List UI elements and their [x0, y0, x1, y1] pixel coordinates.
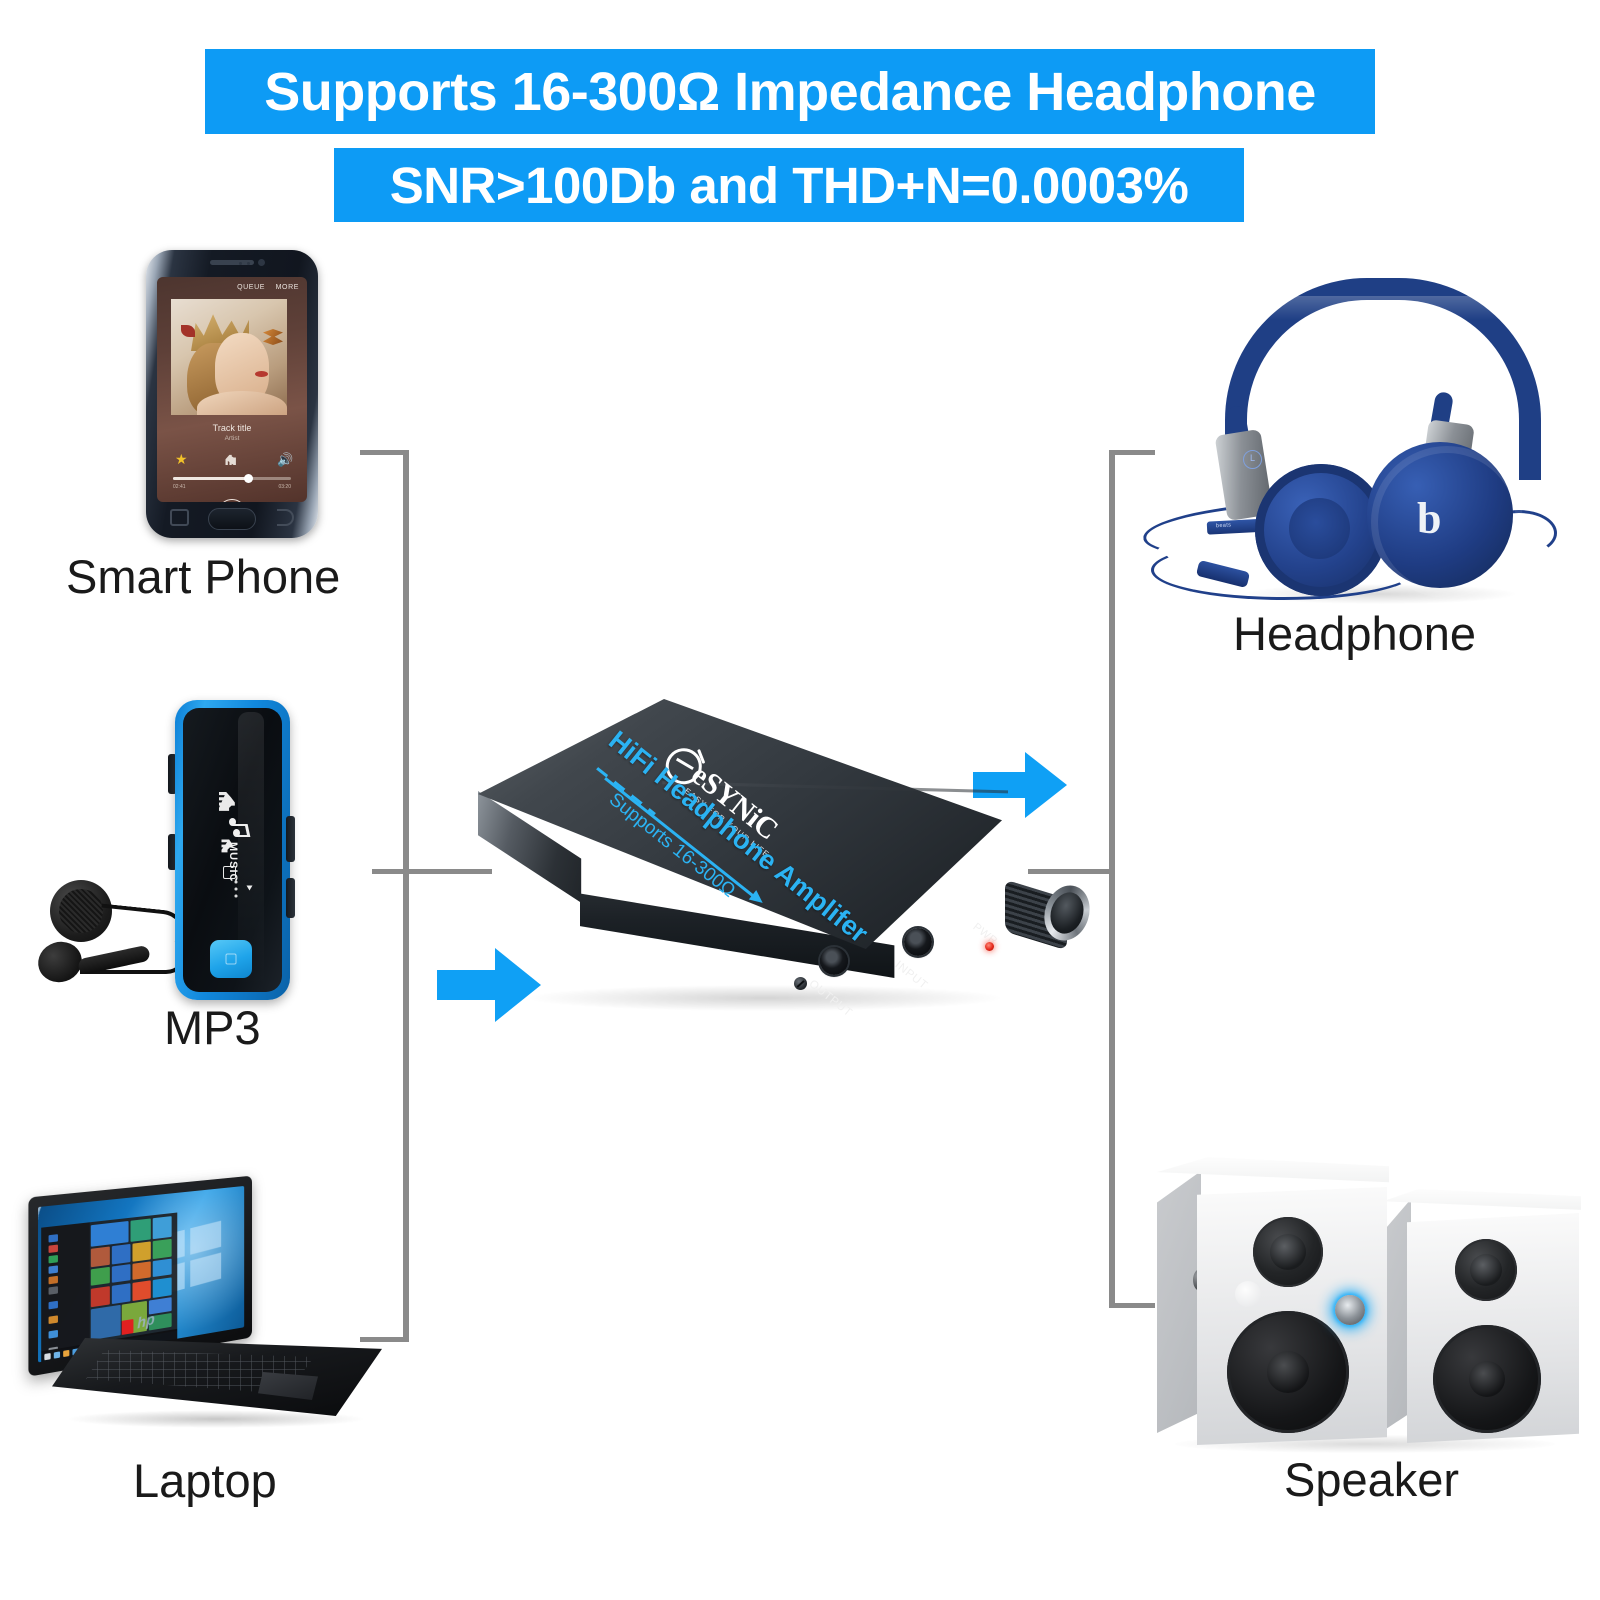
phone-body: QUEUE MORE Track title Artist ★ 🔊	[146, 250, 318, 538]
speaker-pair-device	[1135, 1135, 1555, 1455]
progress-slider[interactable]	[173, 477, 291, 480]
play-button[interactable]	[218, 499, 247, 502]
artwork-butterfly	[263, 329, 283, 345]
input-jack[interactable]	[904, 928, 932, 956]
favorite-star-icon[interactable]: ★	[175, 452, 188, 466]
mp3-dots-icon	[235, 881, 238, 903]
caption-smart-phone: Smart Phone	[66, 549, 340, 604]
front-camera-icon	[258, 259, 265, 266]
caption-speaker: Speaker	[1284, 1452, 1459, 1507]
volume-knob-face	[1045, 888, 1088, 938]
laptop-device: hp	[12, 1186, 412, 1436]
home-button[interactable]	[208, 508, 256, 530]
artwork-shoulder	[197, 391, 287, 415]
start-menu-tiles[interactable]	[91, 1216, 176, 1342]
volume-knob[interactable]	[1005, 883, 1089, 949]
plug-brand-label: beats	[1216, 522, 1232, 529]
front-panel-screw	[794, 977, 807, 990]
headphone-headband	[1225, 278, 1541, 480]
progress-handle[interactable]	[244, 474, 253, 483]
speaker-front-side	[1157, 1171, 1201, 1433]
mp3-equalizer-icon	[219, 792, 237, 814]
speaker-volume-knob[interactable]	[1335, 1295, 1365, 1325]
connector-right-vertical	[1109, 450, 1115, 1308]
track-title: Track title	[157, 423, 307, 433]
music-note-icon	[227, 816, 249, 842]
speaker-front-woofer	[1227, 1311, 1349, 1433]
mp3-display: MUSIC	[199, 786, 279, 906]
track-artist: Artist	[157, 435, 307, 442]
mp3-body: MUSIC	[175, 700, 290, 1000]
transport-controls: ⤨ ⏮ ⏭ ↻ Shuffle on Repeat all	[157, 499, 307, 502]
artwork-lips	[255, 371, 268, 377]
headphone-amplifier-device: eSYNiC EASY FOR YOUR LIFE HiFi Headphone…	[470, 685, 1070, 1075]
headphone-earcup-left	[1255, 464, 1387, 596]
elapsed-time: 02:41	[173, 484, 186, 490]
back-nav-icon[interactable]	[277, 509, 294, 526]
infographic-canvas: Supports 16-300Ω Impedance Headphone SNR…	[0, 0, 1600, 1600]
power-led-indicator	[985, 942, 994, 951]
start-menu-app-list[interactable]	[41, 1222, 89, 1353]
player-icon-row: ★ 🔊	[157, 451, 307, 469]
left-side-marker: L	[1243, 450, 1262, 469]
mp3-screen-label: MUSIC	[227, 842, 239, 882]
artwork-leaf	[181, 325, 195, 337]
mp3-front-panel: MUSIC	[183, 708, 282, 992]
equalizer-icon[interactable]	[226, 453, 239, 465]
headline-banner-secondary: SNR>100Db and THD+N=0.0003%	[334, 148, 1244, 222]
amplifier-shadow	[530, 985, 1000, 1011]
smartphone-device: QUEUE MORE Track title Artist ★ 🔊	[146, 250, 318, 538]
caption-laptop: Laptop	[133, 1453, 277, 1508]
phone-earpiece	[210, 260, 254, 265]
connector-left-top-stub	[360, 450, 406, 455]
speaker-front-tweeter	[1253, 1217, 1323, 1287]
speaker-rear-woofer	[1433, 1325, 1541, 1433]
output-jack[interactable]	[820, 947, 848, 975]
phone-screen: QUEUE MORE Track title Artist ★ 🔊	[157, 277, 307, 502]
speaker-rear-side	[1383, 1199, 1411, 1431]
phone-top-bezel	[146, 250, 318, 276]
progress-fill	[173, 477, 247, 480]
beats-logo-icon: b	[1417, 498, 1463, 544]
player-queue-button[interactable]: QUEUE	[237, 284, 265, 291]
speaker-power-indicator	[1235, 1281, 1261, 1307]
total-duration: 03:20	[278, 484, 291, 490]
mp3-player-device: MUSIC	[20, 680, 320, 1020]
mp3-center-button[interactable]	[210, 940, 252, 978]
laptop-screen: hp	[38, 1186, 244, 1362]
mp3-cursor-icon	[247, 886, 253, 891]
headline-banner-primary: Supports 16-300Ω Impedance Headphone	[205, 49, 1375, 134]
volume-icon[interactable]: 🔊	[277, 453, 291, 466]
recents-nav-icon[interactable]	[170, 509, 189, 526]
caption-headphone: Headphone	[1233, 606, 1476, 661]
caption-mp3: MP3	[164, 1000, 261, 1055]
player-more-button[interactable]: MORE	[276, 284, 299, 291]
mp3-side-button-3[interactable]	[286, 816, 295, 862]
laptop-shadow	[66, 1410, 366, 1428]
speaker-rear-tweeter	[1455, 1239, 1517, 1301]
album-artwork	[171, 299, 287, 415]
headphone-device: beats L b	[1135, 272, 1553, 610]
mp3-side-button-4[interactable]	[286, 878, 295, 918]
